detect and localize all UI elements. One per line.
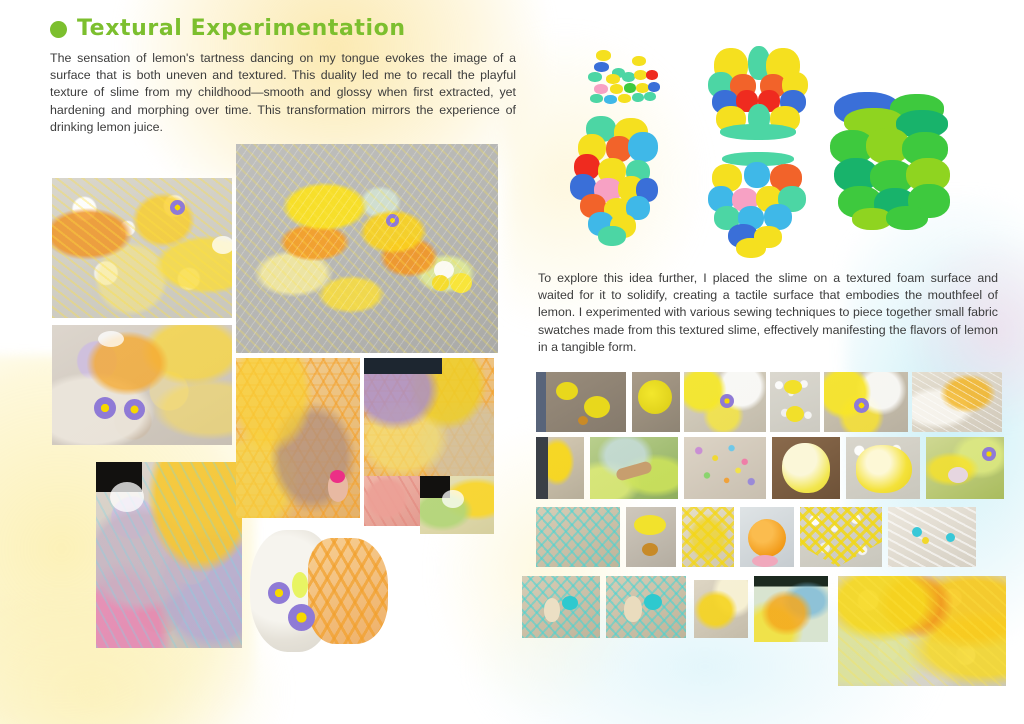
page-header: Textural Experimentation (50, 16, 406, 41)
page-title: Textural Experimentation (77, 16, 406, 41)
photo-slime-ball-pale (772, 437, 840, 499)
photo-swatch-purple-yellow (364, 358, 494, 480)
sketch-panel (568, 46, 1020, 261)
photo-tool-on-green-texture (590, 437, 678, 499)
photo-orange-slime-ball (740, 507, 794, 567)
photo-yellow-fold-swatch (694, 580, 748, 638)
photo-slime-clump-yellow (846, 437, 920, 499)
photo-slime-white-flower (684, 372, 766, 432)
bullet-icon (50, 21, 67, 38)
photo-slime-two-drops (770, 372, 820, 432)
photo-slime-on-board (536, 372, 626, 432)
photo-pinned-white-texture (888, 507, 976, 567)
photo-mesh-overlay-sheer (912, 372, 1002, 432)
photo-yellow-net-on-bubble (800, 507, 882, 567)
photo-texture-closeup-orange-yellow (52, 178, 232, 318)
photo-green-yellow-swatch-flower (926, 437, 1004, 499)
photo-slime-flower-centre (824, 372, 908, 432)
portfolio-page: Textural Experimentation The sensation o… (0, 0, 1024, 724)
photo-swatch-green-yellow (420, 476, 494, 534)
garment-sketch-right-green (830, 92, 960, 232)
photo-slime-blob-yellow (632, 372, 680, 432)
photo-honeycomb-flower-piece (246, 520, 396, 660)
photo-hero-textile-assembly (236, 144, 498, 353)
intro-paragraph: The sensation of lemon's tartness dancin… (50, 50, 516, 136)
photo-texture-closeup-layered-lilac (96, 462, 242, 648)
garment-sketch-left (570, 116, 676, 246)
photo-texture-closeup-purple-flowers (52, 325, 232, 445)
garment-sketch-center (708, 46, 812, 258)
photo-teal-net-shell-closeup (606, 576, 686, 638)
photo-swatch-pink-honeycomb (364, 476, 420, 526)
photo-yellow-honeycomb-mesh (682, 507, 734, 567)
photo-foam-texture-mint (536, 507, 620, 567)
process-paragraph: To explore this idea further, I placed t… (538, 270, 998, 356)
photo-beaded-sprinkle-surface (684, 437, 766, 499)
photo-peeling-slime-sheet (754, 576, 828, 642)
photo-final-swatch-large (838, 576, 1006, 686)
photo-teal-net-shell (522, 576, 600, 638)
photo-stitching-in-progress (236, 358, 360, 518)
photo-swatch-edge-yellow (536, 437, 584, 499)
colour-swatch-dots (586, 50, 682, 112)
photo-slime-puddle-button (626, 507, 676, 567)
